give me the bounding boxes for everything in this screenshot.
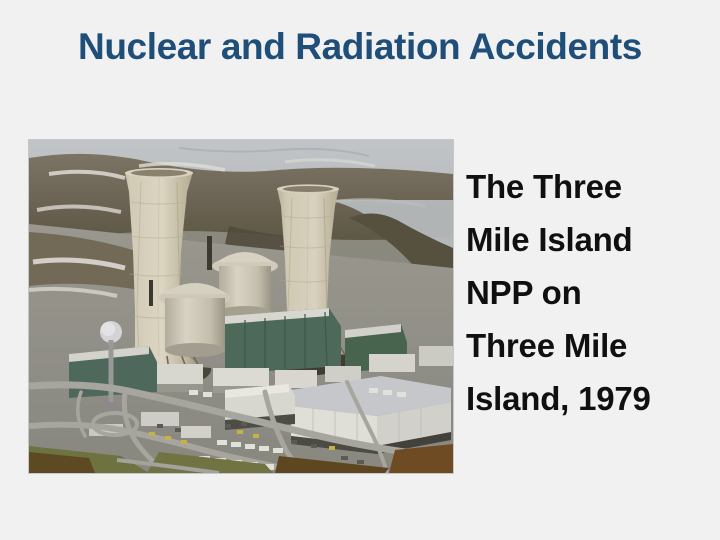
caption-line-2: Mile Island — [466, 213, 716, 266]
caption-line-4: Three Mile — [466, 319, 716, 372]
caption-line-5: Island, 1979 — [466, 372, 716, 425]
caption-line-3: NPP on — [466, 266, 716, 319]
three-mile-island-photo — [29, 140, 453, 473]
page-title: Nuclear and Radiation Accidents — [0, 24, 720, 70]
caption-line-1: The Three — [466, 160, 716, 213]
photo-illustration — [29, 140, 453, 473]
photo-caption: The Three Mile Island NPP on Three Mile … — [466, 160, 716, 425]
slide-canvas: Nuclear and Radiation Accidents — [0, 0, 720, 540]
